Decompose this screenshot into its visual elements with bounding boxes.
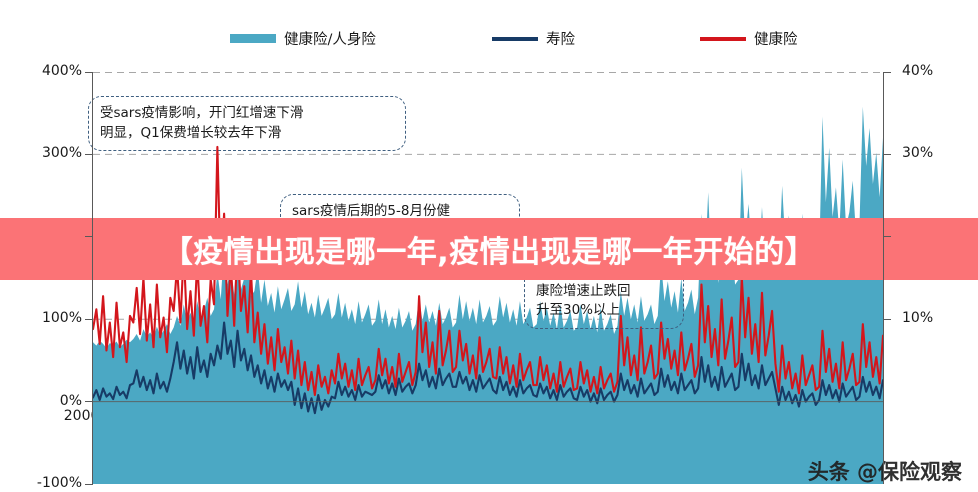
- watermark: 头条 @保险观察: [808, 456, 962, 486]
- y-axis-right-tick: 40%: [902, 63, 962, 79]
- y-axis-right-tickmark: [883, 154, 891, 155]
- annotation-sars-q1: 受sars疫情影响，开门红增速下滑 明显，Q1保费增长较去年下滑: [88, 96, 406, 151]
- legend-swatch-health-over-life: [230, 34, 276, 43]
- legend-item-health-insurance: 健康险: [700, 28, 798, 49]
- legend-item-health-over-life: 健康险/人身险: [230, 28, 376, 49]
- y-axis-left-tickmark: [85, 401, 93, 402]
- y-axis-right-tickmark: [883, 72, 891, 73]
- y-axis-right-spine: [883, 72, 884, 484]
- y-axis-left-tick: 0%: [22, 393, 82, 409]
- y-axis-left-tickmark: [85, 72, 93, 73]
- y-axis-left-tickmark: [85, 154, 93, 155]
- legend-swatch-life-insurance: [492, 37, 538, 41]
- legend-label-health-over-life: 健康险/人身险: [284, 28, 376, 49]
- y-axis-left-spine: [92, 72, 93, 484]
- y-axis-left-tick: 100%: [22, 310, 82, 326]
- legend-label-health-insurance: 健康险: [754, 28, 798, 49]
- y-axis-left-tickmark: [85, 236, 93, 237]
- y-axis-right-tick: 10%: [902, 310, 962, 326]
- y-axis-right-tickmark: [883, 319, 891, 320]
- y-axis-left-tickmark: [85, 319, 93, 320]
- legend-item-life-insurance: 寿险: [492, 28, 575, 49]
- overlay-banner-text: 【疫情出现是哪一年,疫情出现是哪一年开始的】: [163, 227, 815, 271]
- y-axis-left-tickmark: [85, 484, 93, 485]
- chart-legend: 健康险/人身险 寿险 健康险: [0, 26, 978, 54]
- legend-label-life-insurance: 寿险: [546, 28, 575, 49]
- y-axis-left-tick: -100%: [22, 475, 82, 491]
- overlay-banner: 【疫情出现是哪一年,疫情出现是哪一年开始的】: [0, 218, 978, 280]
- y-axis-right-tick: 30%: [902, 145, 962, 161]
- legend-swatch-health-insurance: [700, 37, 746, 41]
- y-axis-right-tickmark: [883, 236, 891, 237]
- y-axis-left-tick: 400%: [22, 63, 82, 79]
- y-axis-left-tick: 300%: [22, 145, 82, 161]
- chart-screenshot: 健康险/人身险 寿险 健康险 -100%0%100%200%300%400% 1…: [0, 0, 978, 492]
